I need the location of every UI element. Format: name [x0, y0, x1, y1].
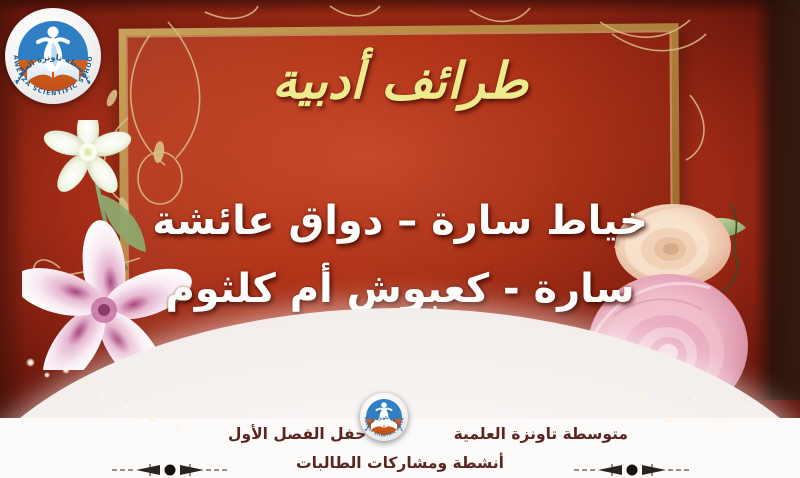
presentation-slide: طرائف أدبية خياط سارة – دواق عائشة سارة … — [0, 0, 800, 478]
logo-graphic: متوسطة تاونزة العلمية TAWENZA SCIENTIFIC… — [5, 8, 101, 104]
school-logo-top: متوسطة تاونزة العلمية TAWENZA SCIENTIFIC… — [5, 8, 101, 104]
slide-title: طرائف أدبية — [0, 52, 800, 110]
footer-ornament-left — [110, 462, 230, 478]
slide-footer: متوسطة تاونزة العلمية حفل الفصل الأول أن… — [0, 406, 800, 478]
footer-event-name: حفل الفصل الأول — [228, 425, 366, 443]
top-shadow-edge — [0, 0, 800, 14]
slide-body-line-1: خياط سارة – دواق عائشة — [150, 196, 650, 247]
footer-ornament-right — [572, 462, 692, 478]
footer-school-name: متوسطة تاونزة العلمية — [454, 425, 628, 443]
